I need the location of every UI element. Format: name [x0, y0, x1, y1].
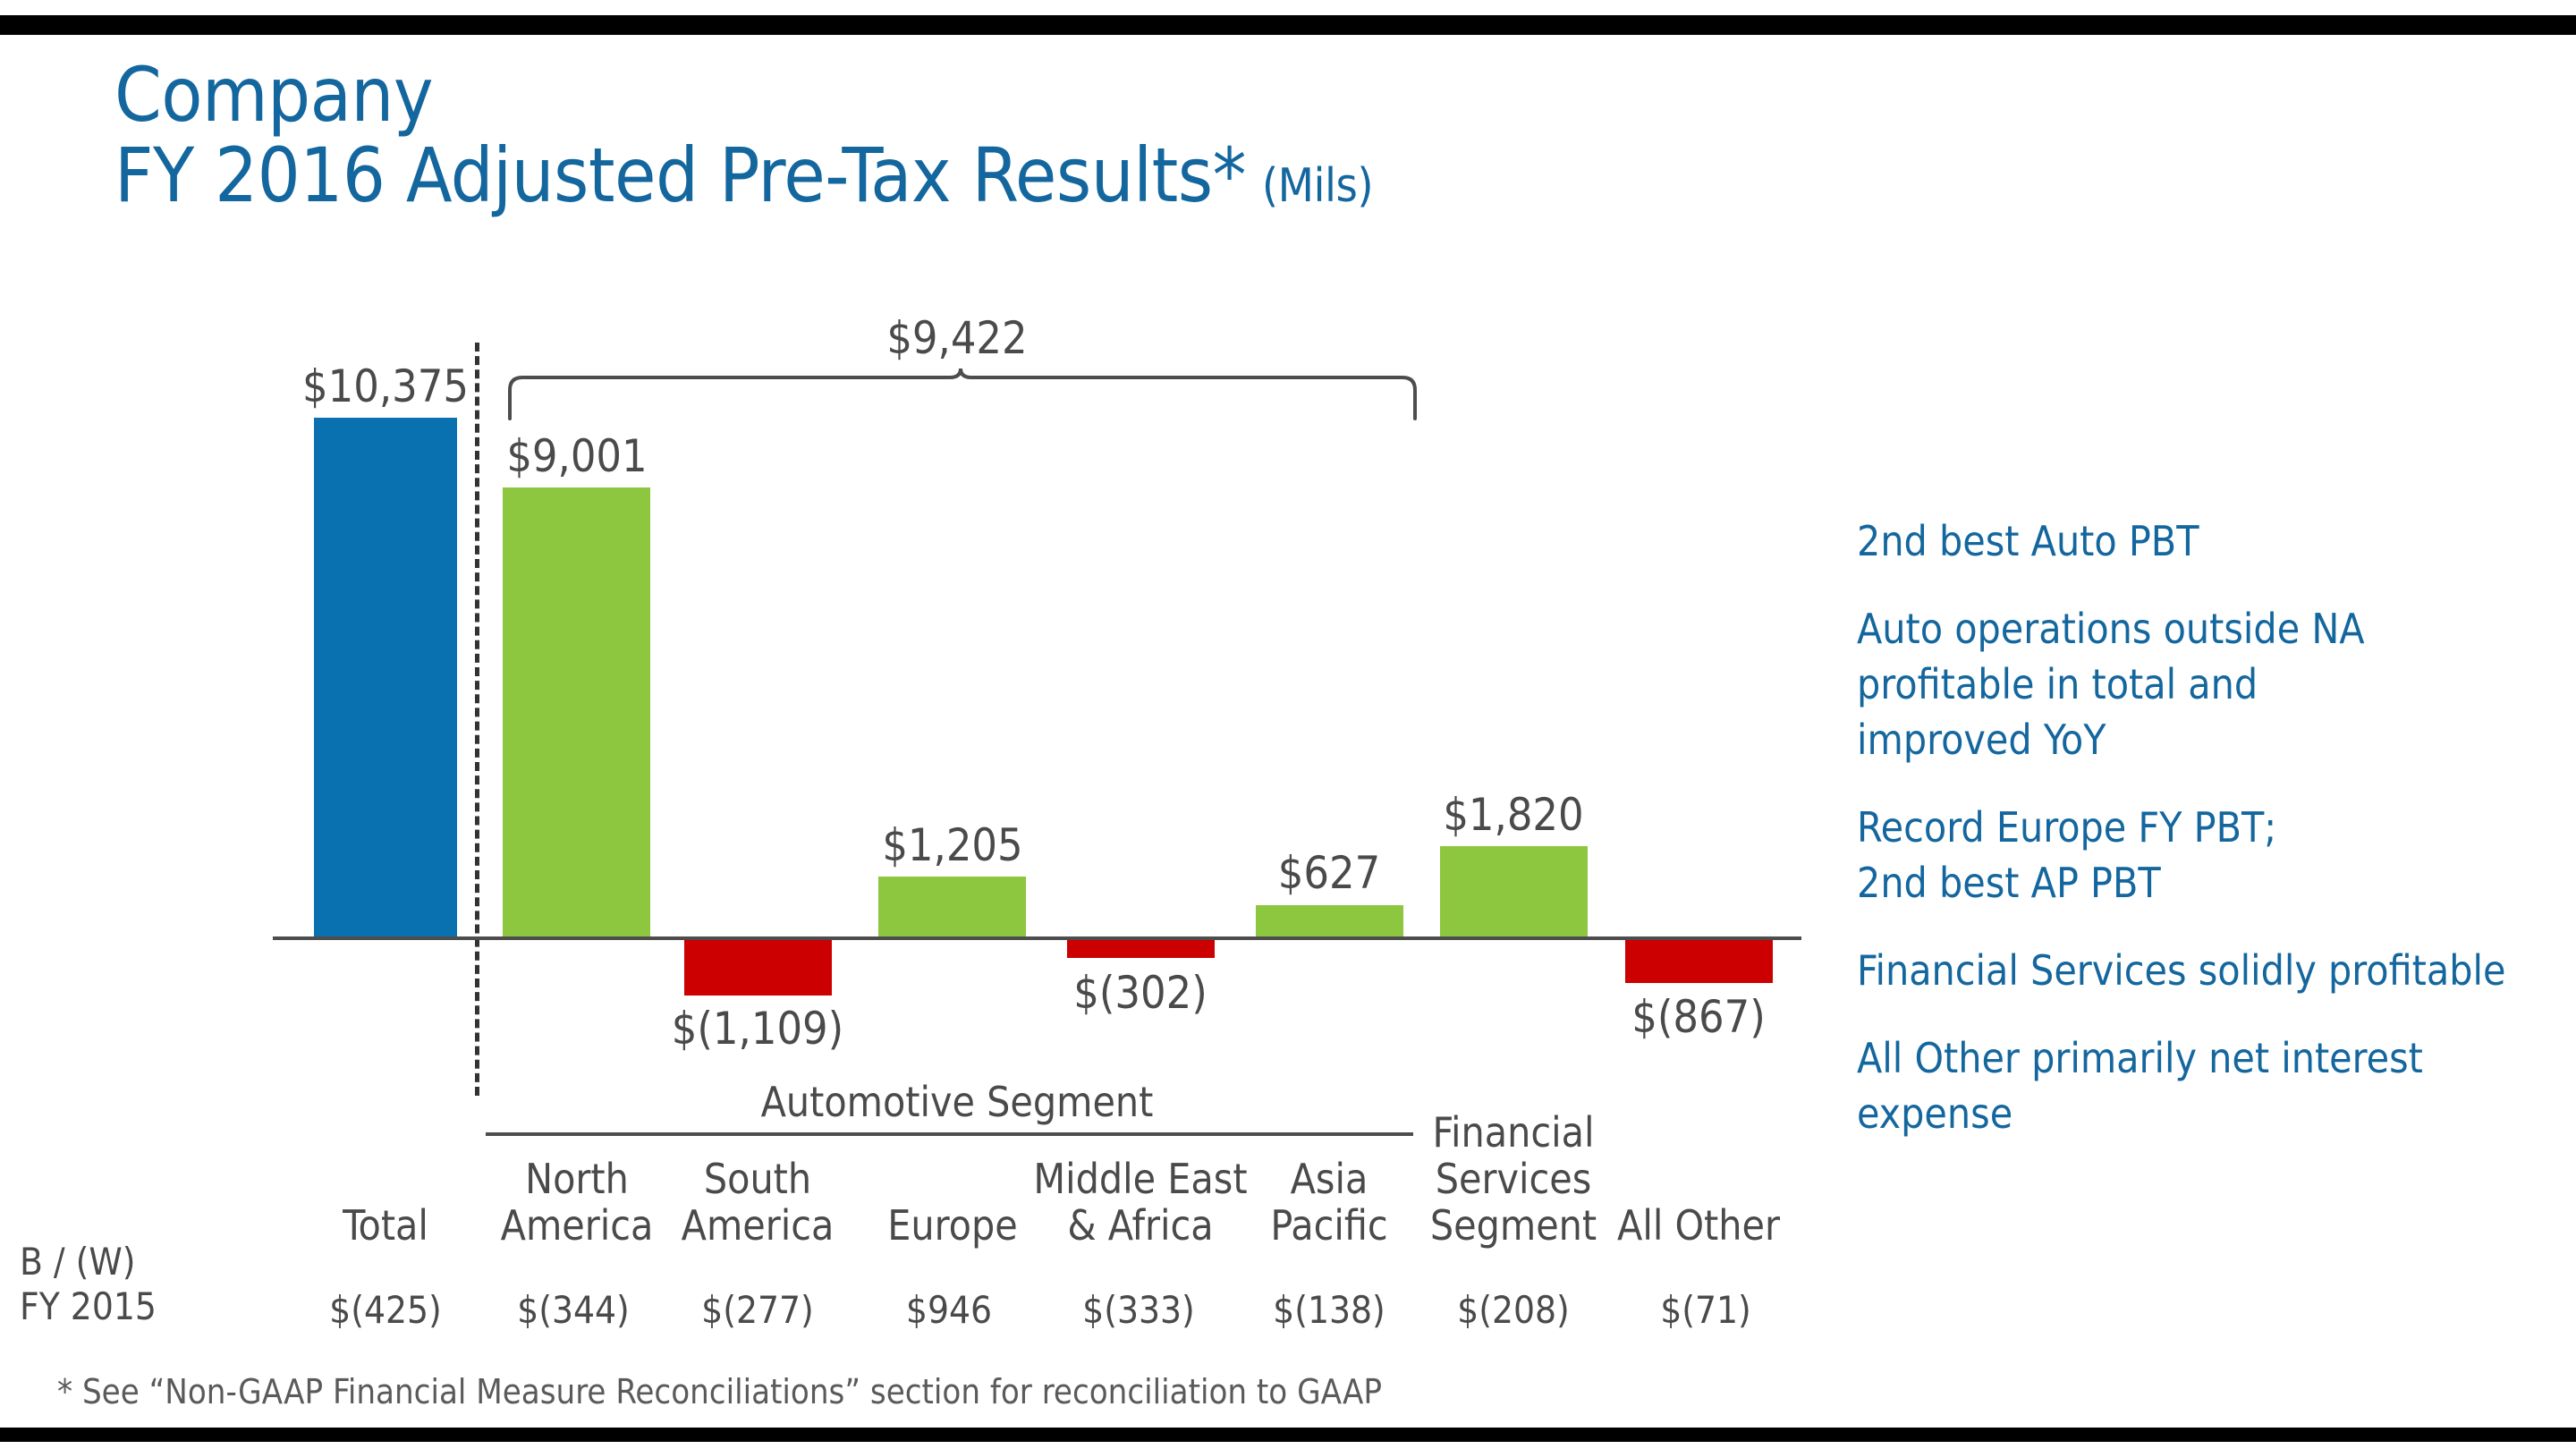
slide-root: Company FY 2016 Adjusted Pre-Tax Results… — [0, 0, 2576, 1449]
variance-row-header-line2: FY 2015 — [20, 1284, 157, 1329]
category-label-asia-pacific: Asia Pacific — [1222, 1156, 1436, 1249]
variance-value-total: $(425) — [278, 1290, 493, 1331]
bar-value-total: $10,375 — [278, 364, 493, 409]
variance-row-header: B / (W) FY 2015 — [20, 1240, 157, 1329]
bar-value-asia-pacific: $627 — [1222, 851, 1436, 895]
bar-value-financial-services: $1,820 — [1406, 792, 1621, 837]
chart-zero-axis — [273, 936, 1801, 940]
bracket-shape — [506, 367, 1419, 425]
bar-total — [314, 418, 457, 936]
footnote-non-gaap: * See “Non-GAAP Financial Measure Reconc… — [57, 1372, 1382, 1411]
bar-north-america — [503, 487, 650, 936]
commentary-item-4: Financial Services solidly profitable — [1857, 943, 2537, 998]
bar-europe — [878, 877, 1026, 936]
commentary-item-1: 2nd best Auto PBT — [1857, 513, 2537, 569]
commentary-item-2: Auto operations outside NA profitable in… — [1857, 601, 2537, 767]
bar-asia-pacific — [1256, 905, 1403, 936]
bar-middle-east-africa — [1067, 940, 1215, 958]
variance-value-middle-east-africa: $(333) — [1031, 1290, 1246, 1331]
variance-value-north-america: $(344) — [466, 1290, 681, 1331]
commentary-list: 2nd best Auto PBT Auto operations outsid… — [1857, 513, 2537, 1174]
automotive-segment-rule — [486, 1132, 1413, 1136]
bar-value-south-america: $(1,109) — [650, 1006, 865, 1051]
variance-value-europe: $946 — [842, 1290, 1056, 1331]
bar-south-america — [684, 940, 832, 996]
bracket-total-label: $9,422 — [796, 315, 1118, 361]
bar-value-middle-east-africa: $(302) — [1033, 970, 1248, 1015]
variance-value-financial-services: $(208) — [1406, 1290, 1621, 1331]
bar-value-all-other: $(867) — [1591, 995, 1806, 1039]
commentary-item-3: Record Europe FY PBT; 2nd best AP PBT — [1857, 800, 2537, 911]
category-label-all-other: All Other — [1591, 1202, 1806, 1249]
category-label-financial-services: Financial Services Segment — [1406, 1109, 1621, 1249]
bar-all-other — [1625, 940, 1773, 983]
bar-chart: $9,422 $10,375 $9,001 $(1,109) $1,205 $(… — [0, 0, 1843, 1449]
variance-value-asia-pacific: $(138) — [1222, 1290, 1436, 1331]
bar-value-north-america: $9,001 — [470, 434, 684, 479]
variance-value-all-other: $(71) — [1598, 1290, 1813, 1331]
automotive-segment-header: Automotive Segment — [501, 1080, 1413, 1123]
variance-value-south-america: $(277) — [650, 1290, 865, 1331]
commentary-item-5: All Other primarily net interest expense — [1857, 1030, 2537, 1141]
bar-financial-services — [1440, 846, 1588, 936]
category-label-south-america: South America — [650, 1156, 865, 1249]
bar-value-europe: $1,205 — [845, 823, 1060, 868]
category-label-total: Total — [278, 1202, 493, 1249]
variance-row-header-line1: B / (W) — [20, 1240, 157, 1284]
